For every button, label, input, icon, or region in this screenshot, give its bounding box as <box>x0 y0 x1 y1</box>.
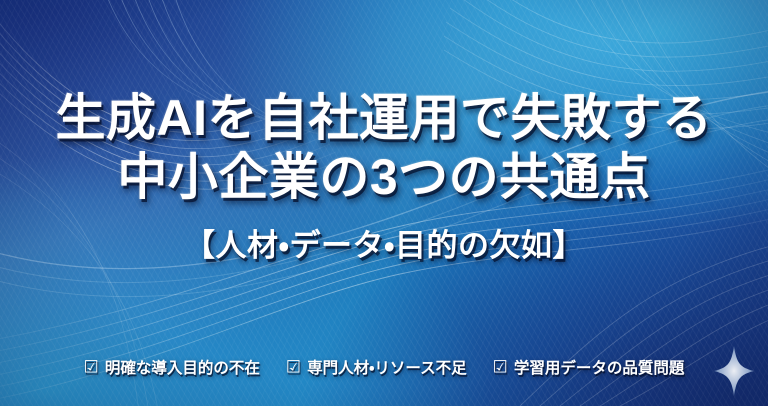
checklist-item-3: ☑ 学習用データの品質問題 <box>493 356 685 378</box>
checklist-item-2-label: 専門人材・リソース不足 <box>307 356 467 378</box>
headline: 生成AIを自社運用で失敗する 中小企業の3つの共通点 <box>56 0 713 204</box>
subtitle: 【人材・データ・目的の欠如】 <box>184 220 584 265</box>
banner-content: 生成AIを自社運用で失敗する 中小企業の3つの共通点 【人材・データ・目的の欠如… <box>0 0 768 406</box>
checklist-item-1-label: 明確な導入目的の不在 <box>105 356 260 378</box>
headline-line-2: 中小企業の3つの共通点 <box>56 150 713 204</box>
ballot-box-with-check-icon: ☑ <box>286 358 301 375</box>
blog-thumbnail-banner: 生成AIを自社運用で失敗する 中小企業の3つの共通点 【人材・データ・目的の欠如… <box>0 0 768 406</box>
checklist: ☑ 明確な導入目的の不在 ☑ 専門人材・リソース不足 ☑ 学習用データの品質問題 <box>0 356 768 378</box>
checklist-item-3-label: 学習用データの品質問題 <box>514 356 685 378</box>
checklist-item-2: ☑ 専門人材・リソース不足 <box>286 356 467 378</box>
headline-line-1: 生成AIを自社運用で失敗する <box>56 92 713 144</box>
ballot-box-with-check-icon: ☑ <box>84 358 99 375</box>
checklist-item-1: ☑ 明確な導入目的の不在 <box>84 356 260 378</box>
ballot-box-with-check-icon: ☑ <box>493 358 508 375</box>
